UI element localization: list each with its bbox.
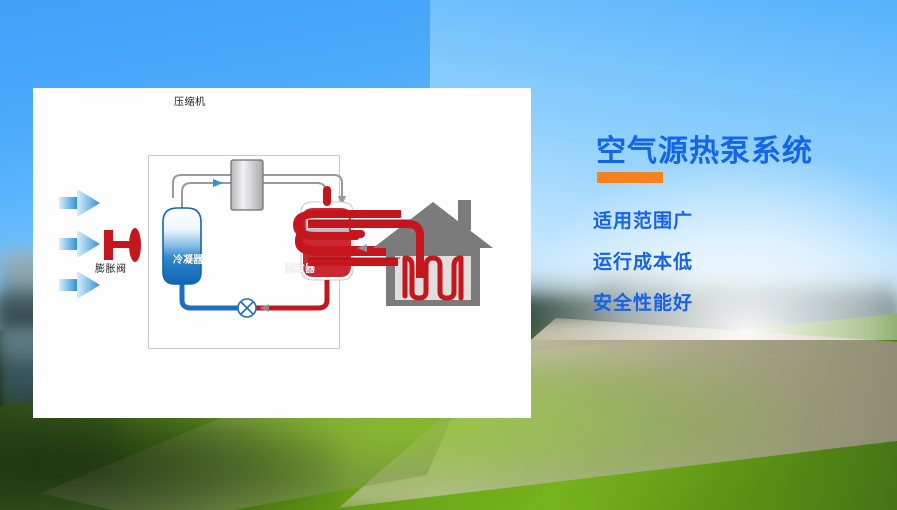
heat-transfer-pipes [308, 214, 438, 294]
flow-arrow-expansion [259, 304, 269, 312]
compressor-unit [231, 160, 263, 210]
feature-bullet-1: 适用范围广 [593, 206, 693, 233]
outdoor-fan-icon [104, 228, 141, 262]
title-underline-bar [597, 172, 663, 183]
liquid-line-cold [182, 284, 243, 308]
airflow-arrow-2 [59, 230, 100, 258]
airflow-arrow-3 [59, 271, 100, 299]
slide-canvas: 压缩机 膨胀阀 [0, 0, 897, 510]
label-expansion-valve: 膨胀阀 [95, 260, 127, 275]
feature-bullet-2: 运行成本低 [593, 247, 693, 274]
label-compressor: 压缩机 [174, 93, 206, 108]
expansion-valve-icon [238, 299, 256, 317]
feature-bullet-3: 安全性能好 [593, 288, 693, 315]
flow-arrow-suction [213, 179, 223, 187]
airflow-arrow-1 [59, 189, 100, 217]
page-title: 空气源热泵系统 [596, 126, 813, 170]
diagram-card: 压缩机 膨胀阀 [33, 88, 531, 418]
sky-haze [520, 150, 897, 340]
condenser-unit [163, 208, 201, 284]
